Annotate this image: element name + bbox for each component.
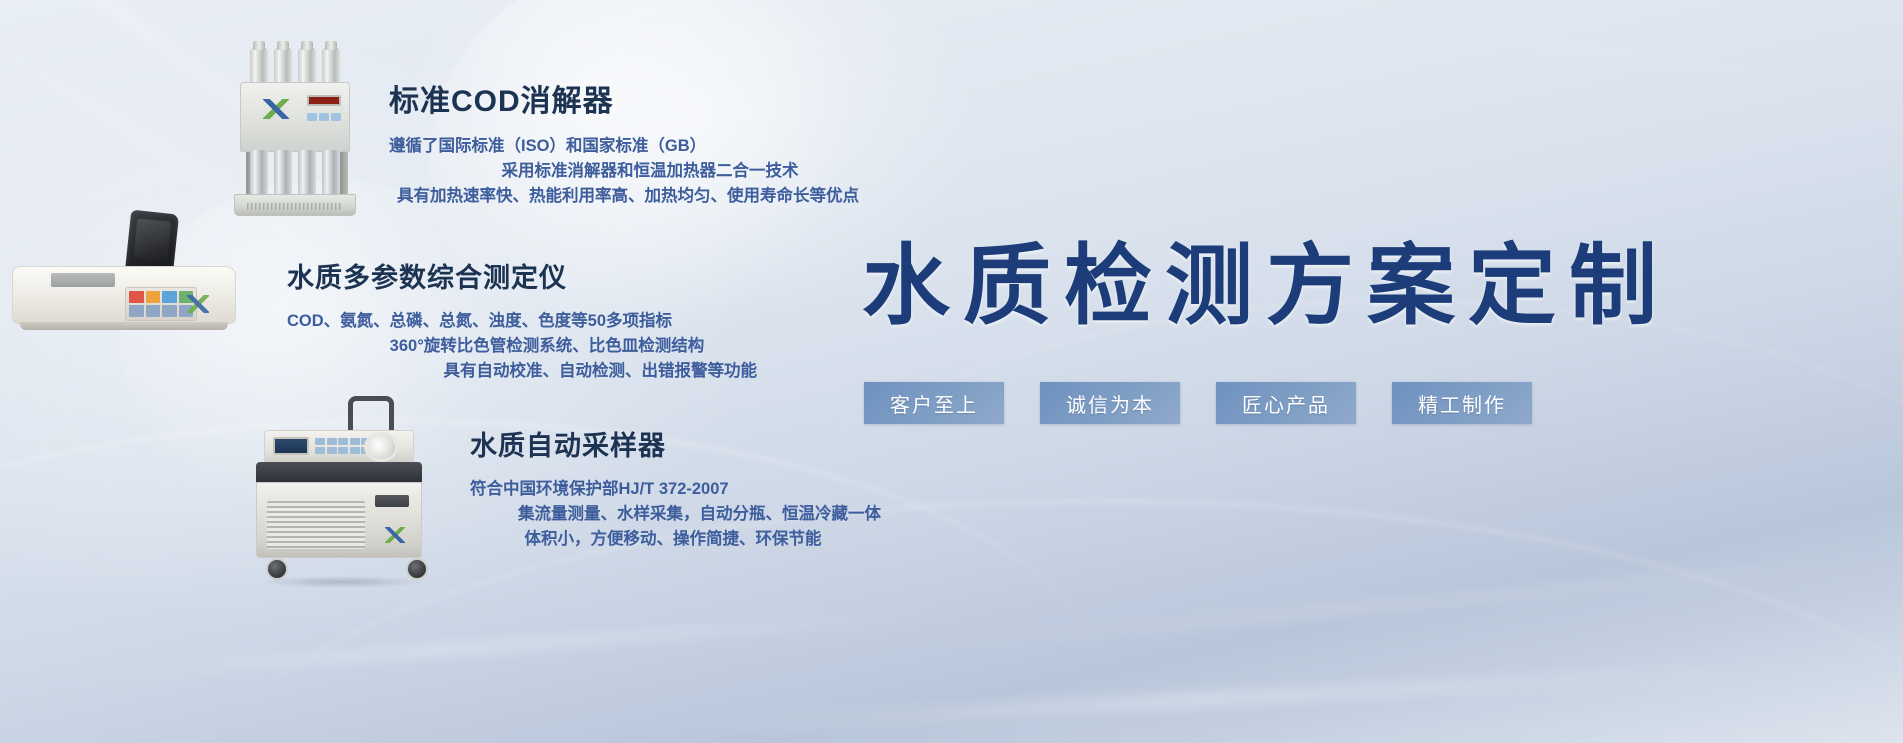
slogan-button-craftsmanship[interactable]: 匠心产品 [1216, 382, 1356, 424]
water-quality-banner: 标准COD消解器 遵循了国际标准（ISO）和国家标准（GB） 采用标准消解器和恒… [0, 0, 1903, 743]
product-feature-line: COD、氨氮、总磷、总氮、浊度、色度等50多项指标 [287, 309, 757, 334]
auto-sampler-icon [252, 396, 442, 582]
decorative-wave [200, 500, 1903, 743]
multiparameter-analyzer-icon [0, 212, 260, 342]
product-feature-line: 集流量测量、水样采集，自动分瓶、恒温冷藏一体 [470, 502, 870, 527]
decorative-streak [902, 556, 1899, 651]
product-block-multiparameter-analyzer: 水质多参数综合测定仪 COD、氨氮、总磷、总氮、浊度、色度等50多项指标 360… [287, 256, 757, 384]
slogan-button-group: 客户至上 诚信为本 匠心产品 精工制作 [864, 382, 1532, 424]
product-feature-list: COD、氨氮、总磷、总氮、浊度、色度等50多项指标 360°旋转比色管检测系统、… [287, 309, 757, 384]
product-title: 标准COD消解器 [389, 76, 859, 120]
brand-mark-icon [263, 99, 289, 119]
product-feature-line: 具有自动校准、自动检测、出错报警等功能 [287, 359, 757, 384]
brand-mark-icon [187, 295, 209, 313]
slogan-button-customer-first[interactable]: 客户至上 [864, 382, 1004, 424]
product-feature-line: 符合中国环境保护部HJ/T 372-2007 [470, 477, 870, 502]
decorative-streak [700, 661, 1799, 733]
product-title: 水质多参数综合测定仪 [287, 256, 757, 295]
product-feature-list: 遵循了国际标准（ISO）和国家标准（GB） 采用标准消解器和恒温加热器二合一技术… [389, 134, 859, 209]
product-feature-line: 体积小，方便移动、操作简捷、环保节能 [470, 527, 870, 552]
decorative-streak [0, 0, 388, 210]
product-block-cod-digester: 标准COD消解器 遵循了国际标准（ISO）和国家标准（GB） 采用标准消解器和恒… [389, 76, 859, 209]
slogan-button-fine-making[interactable]: 精工制作 [1392, 382, 1532, 424]
product-feature-list: 符合中国环境保护部HJ/T 372-2007 集流量测量、水样采集，自动分瓶、恒… [470, 477, 870, 552]
product-feature-line: 采用标准消解器和恒温加热器二合一技术 [389, 159, 859, 184]
brand-mark-icon [385, 527, 405, 543]
slogan-button-integrity[interactable]: 诚信为本 [1040, 382, 1180, 424]
banner-headline: 水质检测方案定制 [862, 240, 1842, 332]
product-feature-line: 遵循了国际标准（ISO）和国家标准（GB） [389, 134, 859, 159]
decorative-streak [1253, 1, 1903, 103]
product-block-auto-sampler: 水质自动采样器 符合中国环境保护部HJ/T 372-2007 集流量测量、水样采… [470, 424, 870, 552]
product-feature-line: 360°旋转比色管检测系统、比色皿检测结构 [287, 334, 757, 359]
product-feature-line: 具有加热速率快、热能利用率高、加热均匀、使用寿命长等优点 [389, 184, 859, 209]
decorative-streak [61, 609, 960, 682]
product-title: 水质自动采样器 [470, 424, 870, 463]
cod-digester-icon [232, 42, 362, 214]
